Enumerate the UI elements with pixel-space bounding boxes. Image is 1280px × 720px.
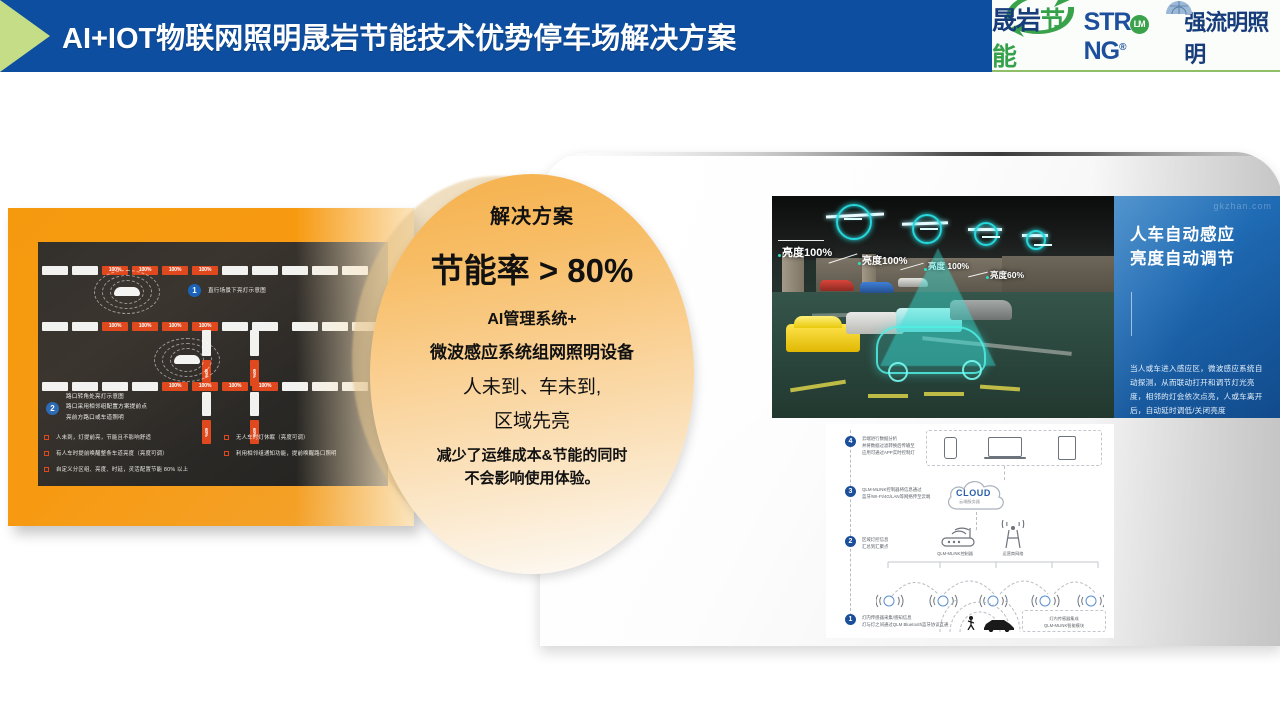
legend-item-2: 无人车时灯休眠（亮度可调）: [236, 433, 309, 441]
divider: [1131, 292, 1132, 336]
lamp-segment-active: 100%: [162, 382, 188, 391]
lamp-segment-vertical: [202, 392, 211, 416]
network-architecture-diagram: 4 云端进行数据分析 并将数据过滤转换后传输至 应用可通过APP实时控制灯 CL…: [826, 424, 1114, 638]
callout-2-line1: 路口转角处亮灯示意图: [66, 392, 147, 402]
legend-bullet: [44, 435, 49, 440]
sensor-halo-icon: [912, 214, 942, 244]
lamp-segment: [292, 322, 318, 331]
oval-line-ai: AI管理系统+: [487, 305, 576, 329]
lamp-segment-active: 100%: [192, 382, 218, 391]
brightness-label-1: 亮度100%: [782, 244, 832, 260]
oval-highlight: 节能率 > 80%: [431, 244, 634, 292]
cell-tower-icon: [996, 520, 1030, 550]
diagram-step-1-text: 灯内传感器采集/感知信息 灯与灯之间通过QLM Bluetooth蓝牙协议互通: [862, 614, 966, 628]
laptop-base: [984, 457, 1026, 459]
ghost-wheel: [888, 362, 908, 382]
oval-benefit-line2: 不会影响使用体验。: [437, 467, 628, 490]
sensor-halo-icon: [974, 222, 998, 246]
phone-icon: [944, 437, 957, 459]
parking-garage-photo: 亮度100% 亮度100% 亮度 100% 亮度60%: [772, 196, 1114, 418]
oval-line-people: 人未到、车未到,: [463, 372, 601, 399]
sensor-halo-icon: [1026, 230, 1046, 250]
oval-line-area: 区域先亮: [494, 406, 570, 433]
floor-marking: [868, 394, 908, 398]
lamp-segment: [102, 382, 128, 391]
callout-2-text: 路口转角处亮灯示意图 路口采用相邻组配置方案提前点 亮前方路口或车道照明: [66, 392, 147, 423]
callout-2-line3: 亮前方路口或车道照明: [66, 413, 147, 423]
lm-badge-icon: LM: [1130, 15, 1149, 34]
lamp-segment-vertical: [250, 392, 259, 416]
solution-oval: 解决方案 节能率 > 80% AI管理系统+ 微波感应系统组网照明设备 人未到、…: [370, 174, 694, 574]
callout-dot: [778, 254, 781, 257]
page-title: AI+IOT物联网照明晟岩节能技术优势停车场解决方案: [62, 15, 736, 57]
diagram-step-3-text: QLM-MLINK控制器将信息通过 蓝牙/WI-FI/4G/LAN等网络传至云端: [862, 486, 954, 500]
car-icon: [982, 618, 1016, 632]
legend-item-5: 自定义分区组、亮度、时延，灵活配置节能 80% 以上: [56, 465, 188, 473]
callout-2-line2: 路口采用相邻组配置方案提前点: [66, 402, 147, 412]
lamp-segment: [222, 322, 248, 331]
callout-1-badge: 1: [188, 284, 201, 297]
lamp-segment: [312, 382, 338, 391]
laptop-icon: [988, 437, 1022, 457]
diagram-axis: [850, 430, 851, 616]
diagram-step-4-badge: 4: [845, 436, 856, 447]
legend-bullet: [44, 451, 49, 456]
auto-sensing-title: 人车自动感应 亮度自动调节: [1130, 224, 1235, 272]
logo-chinese-name: 晟岩节能: [992, 1, 1080, 73]
cloud-sublabel: 云端服务器: [959, 499, 980, 505]
vehicle-icon: [174, 355, 200, 364]
oval-line-device: 微波感应系统组网照明设备: [430, 338, 634, 363]
pedestrian-icon: [966, 616, 976, 630]
company-logo: 晟岩节能 STRLMNG® 强流明照明: [992, 0, 1280, 72]
chevron-right-icon: [0, 0, 50, 72]
lamp-segment: [252, 266, 278, 275]
node-caption: 灯内传感器集成 QLM-MLINK智能模块: [1025, 615, 1103, 629]
lamp-segment: [222, 266, 248, 275]
oval-benefit: 减少了运维成本&节能的同时 不会影响使用体验。: [437, 444, 628, 491]
legend-item-3: 有人车时提前唤醒整条车道亮度（亮度可调）: [56, 449, 168, 457]
auto-sensing-panel: gkzhan.com 人车自动感应 亮度自动调节 当人或车进入感应区，微波感应系…: [1114, 196, 1280, 418]
logo-strong-wordmark: STRLMNG®: [1084, 8, 1181, 66]
lamp-segment-active: 100%: [102, 322, 128, 331]
parked-car-red: [820, 280, 854, 291]
auto-sensing-title-line2: 亮度自动调节: [1130, 248, 1235, 272]
tablet-icon: [1058, 436, 1076, 460]
lamp-segment: [342, 266, 368, 275]
watermark: gkzhan.com: [1213, 201, 1272, 211]
lamp-segment: [282, 382, 308, 391]
parking-layout-board: 100% 100% 100% 100% 1 直行场景下亮灯示意图 100% 10…: [38, 242, 388, 486]
lamp-segment: [312, 266, 338, 275]
logo-tagline: 强流明照明: [1184, 5, 1280, 69]
cloud-label: CLOUD: [956, 488, 991, 498]
legend-bullet: [44, 467, 49, 472]
lamp-segment-active: 100%: [132, 322, 158, 331]
lamp-segment-vertical: [250, 330, 259, 356]
diagram-step-1-badge: 1: [845, 614, 856, 625]
lamp-segment-active: 100%: [192, 266, 218, 275]
callout-1-text: 直行场景下亮灯示意图: [208, 286, 266, 296]
legend-bullet: [224, 451, 229, 456]
callout-2-badge: 2: [46, 402, 59, 415]
lamp-segment: [322, 322, 348, 331]
vehicle-icon: [114, 287, 140, 296]
lamp-segment: [42, 266, 68, 275]
lamp-segment: [282, 266, 308, 275]
lamp-segment: [72, 382, 98, 391]
legend-item-1: 人未到，灯提前亮，节能且不影响舒适: [56, 433, 151, 441]
slide-root: AI+IOT物联网照明晟岩节能技术优势停车场解决方案 晟岩节能 STRLMNG®…: [0, 0, 1280, 720]
auto-sensing-title-line1: 人车自动感应: [1130, 224, 1235, 248]
lamp-segment-vertical-active: 60%: [202, 420, 211, 444]
callout-dot: [858, 262, 861, 265]
lamp-segment: [72, 266, 98, 275]
legend-bullet: [224, 435, 229, 440]
oval-benefit-line1: 减少了运维成本&节能的同时: [437, 444, 628, 467]
parked-car-yellow-roof: [794, 316, 842, 328]
floor-marking: [924, 392, 964, 396]
diagram-step-2-text: 区域灯控信息 汇总到汇聚点: [862, 536, 954, 550]
lamp-segment: [42, 322, 68, 331]
lamp-segment-active: 100%: [252, 382, 278, 391]
lamp-segment: [132, 382, 158, 391]
diagram-step-3-badge: 3: [845, 486, 856, 497]
lamp-segment-active: 100%: [222, 382, 248, 391]
sensor-halo-icon: [836, 204, 872, 240]
lamp-segment-active: 100%: [162, 266, 188, 275]
callout-leader: [778, 240, 824, 241]
lamp-segment-active: 100%: [162, 322, 188, 331]
auto-sensing-body: 当人或车进入感应区，微波感应系统自动探测，从而联动打开和调节灯光亮度，相邻的灯会…: [1130, 362, 1270, 418]
ghost-wheel: [962, 360, 982, 380]
legend-item-4: 利用相邻组通知功能，提前唤醒路口照明: [236, 449, 337, 457]
oval-heading: 解决方案: [490, 200, 574, 229]
lamp-segment: [42, 382, 68, 391]
lamp-segment: [72, 322, 98, 331]
diagram-step-2-badge: 2: [845, 536, 856, 547]
